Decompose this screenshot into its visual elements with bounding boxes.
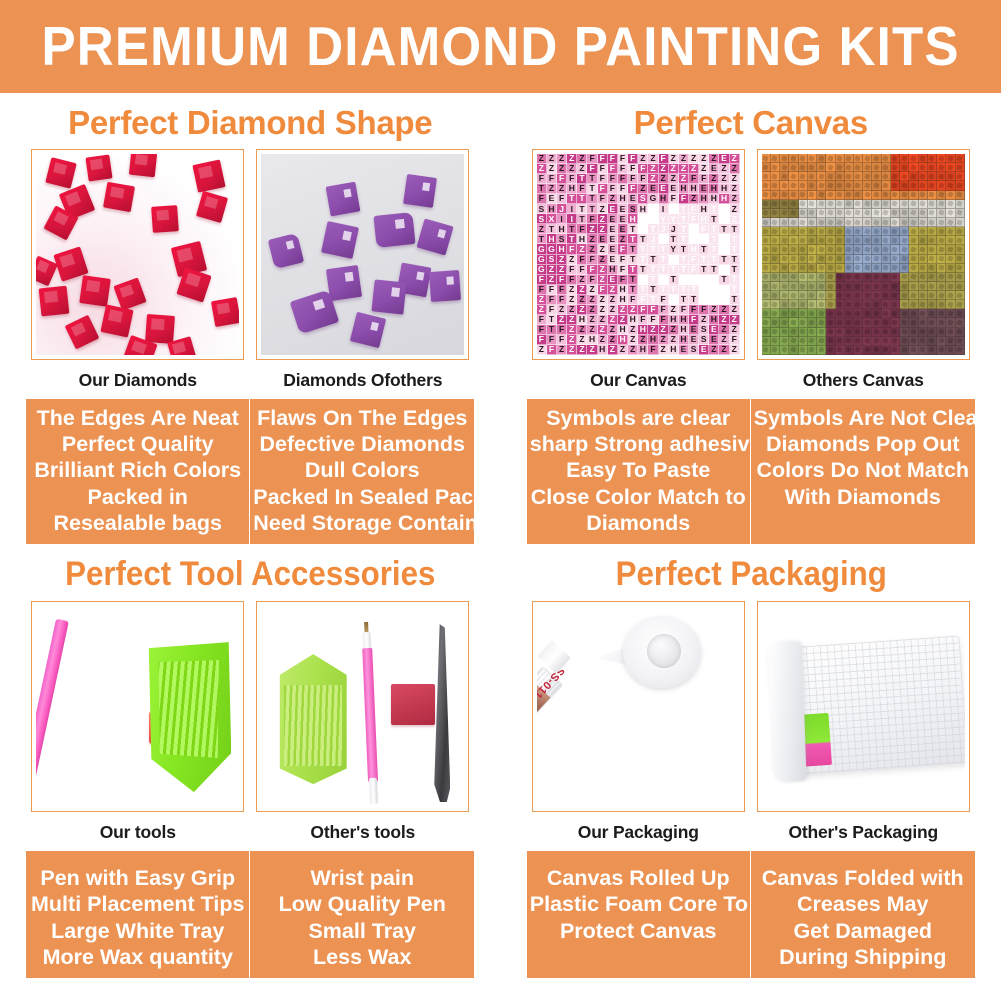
canvas-cell — [937, 209, 946, 218]
bullet-line: During Shipping — [754, 944, 972, 970]
canvas-cell — [872, 200, 881, 209]
canvas-cell — [854, 245, 863, 254]
canvas-cell — [891, 318, 900, 327]
canvas-cell — [928, 191, 937, 200]
canvas-cell — [872, 181, 881, 190]
canvas-cell — [771, 318, 780, 327]
canvas-cell — [799, 227, 808, 236]
photo-caption: Our Canvas — [532, 360, 745, 399]
symbol-cell: T — [679, 234, 689, 244]
symbol-cell: J — [669, 224, 679, 234]
canvas-cell — [845, 255, 854, 264]
canvas-cell — [872, 309, 881, 318]
symbol-cell: I — [557, 214, 567, 224]
bullet-line: More Wax quantity — [29, 944, 246, 970]
canvas-cell — [909, 227, 918, 236]
symbol-cell: Y — [659, 214, 669, 224]
rolled-tube-packaging-photo: SS-011 — [537, 606, 740, 807]
canvas-cell — [780, 318, 789, 327]
canvas-cell — [928, 291, 937, 300]
canvas-cell — [789, 300, 798, 309]
canvas-cell — [882, 245, 891, 254]
canvas-cell — [872, 282, 881, 291]
bullet-line: The Edges Are Neat — [29, 405, 246, 431]
canvas-cell — [845, 218, 854, 227]
symbol-cell: T — [719, 224, 729, 234]
canvas-cell — [891, 154, 900, 163]
canvas-cell — [826, 318, 835, 327]
section-title: Perfect Packaging — [521, 544, 981, 601]
canvas-cell — [956, 300, 965, 309]
canvas-cell — [826, 218, 835, 227]
bullet-line: Canvas Rolled Up — [530, 865, 747, 891]
canvas-cell — [854, 255, 863, 264]
bullet-line: Low Quality Pen — [253, 891, 471, 917]
canvas-cell — [919, 209, 928, 218]
canvas-cell — [789, 273, 798, 282]
canvas-cell — [956, 273, 965, 282]
symbol-cell: F — [648, 345, 658, 355]
canvas-cell — [863, 273, 872, 282]
symbol-cell: T — [638, 244, 648, 254]
canvas-cell — [872, 209, 881, 218]
canvas-cell — [928, 172, 937, 181]
canvas-cell — [900, 264, 909, 273]
bullet-line: Plastic Foam Core To — [530, 891, 747, 917]
canvas-cell — [762, 227, 771, 236]
canvas-cell — [937, 154, 946, 163]
bubble-mailer-icon — [770, 636, 965, 777]
canvas-cell — [836, 291, 845, 300]
canvas-cell — [771, 218, 780, 227]
symbol-cell: X — [547, 214, 557, 224]
canvas-cell — [771, 191, 780, 200]
section-title: Perfect Diamond Shape — [0, 93, 501, 149]
symbol-cell: G — [547, 244, 557, 254]
canvas-cell — [826, 236, 835, 245]
canvas-cell — [863, 300, 872, 309]
canvas-cell — [817, 337, 826, 346]
symbol-cell: I — [638, 214, 648, 224]
symbol-cell: Z — [689, 234, 699, 244]
canvas-cell — [771, 181, 780, 190]
canvas-cell — [762, 264, 771, 273]
section-row-2: Perfect Tool Accessories — [0, 544, 1001, 978]
canvas-cell — [808, 181, 817, 190]
canvas-cell — [919, 328, 928, 337]
canvas-cell — [826, 227, 835, 236]
canvas-cell — [937, 236, 946, 245]
canvas-cell — [836, 181, 845, 190]
canvas-cell — [946, 218, 955, 227]
canvas-cell — [799, 291, 808, 300]
bullet-bar-theirs: Symbols Are Not Clear Diamonds Pop Out C… — [751, 399, 975, 544]
symbol-cell: T — [709, 214, 719, 224]
compare-cell-other-canvas: Others Canvas — [757, 149, 970, 399]
canvas-cell — [799, 163, 808, 172]
canvas-cell — [771, 255, 780, 264]
photo-frame — [31, 149, 244, 360]
canvas-cell — [854, 227, 863, 236]
canvas-cell — [882, 273, 891, 282]
symbol-cell: E — [608, 224, 618, 234]
canvas-cell — [854, 337, 863, 346]
bullet-bars: The Edges Are Neat Perfect Quality Brill… — [0, 399, 501, 544]
canvas-cell — [808, 346, 817, 355]
canvas-cell — [789, 346, 798, 355]
canvas-cell — [780, 300, 789, 309]
canvas-cell — [937, 346, 946, 355]
canvas-cell — [762, 200, 771, 209]
canvas-cell — [937, 309, 946, 318]
symbol-cell: Z — [587, 244, 597, 254]
canvas-cell — [937, 300, 946, 309]
bullet-line: Dull Colors — [253, 457, 471, 483]
canvas-cell — [891, 236, 900, 245]
photo-frame: ZZZZZFFFFFZZFZZZZZEZZZZZZFFFFFFZZZZZZEZZ… — [532, 149, 745, 360]
symbol-cell: Z — [608, 345, 618, 355]
compare-cell-our-canvas: ZZZZZFFFFFZZFZZZZZEZZZZZZFFFFFFZZZZZZEZZ… — [532, 149, 745, 399]
canvas-cell — [900, 300, 909, 309]
bullet-line: Large White Tray — [29, 918, 246, 944]
canvas-cell — [891, 227, 900, 236]
canvas-cell — [909, 273, 918, 282]
canvas-cell — [946, 181, 955, 190]
canvas-cell — [956, 318, 965, 327]
bullet-bar-ours: Canvas Rolled Up Plastic Foam Core To Pr… — [527, 851, 751, 978]
symbol-cell: T — [577, 194, 587, 204]
canvas-cell — [872, 255, 881, 264]
canvas-cell — [762, 245, 771, 254]
canvas-cell — [863, 181, 872, 190]
canvas-cell — [762, 255, 771, 264]
canvas-cell — [762, 318, 771, 327]
canvas-cell — [854, 273, 863, 282]
canvas-cell — [836, 346, 845, 355]
canvas-cell — [937, 264, 946, 273]
canvas-cell — [826, 300, 835, 309]
canvas-cell — [854, 172, 863, 181]
symbol-cell: Z — [587, 345, 597, 355]
canvas-cell — [956, 255, 965, 264]
symbol-cell: Z — [577, 244, 587, 254]
canvas-cell — [789, 227, 798, 236]
canvas-cell — [808, 255, 817, 264]
canvas-cell — [771, 328, 780, 337]
canvas-cell — [826, 181, 835, 190]
symbol-cell: Z — [587, 224, 597, 234]
canvas-cell — [928, 264, 937, 273]
canvas-cell — [900, 255, 909, 264]
canvas-cell — [946, 291, 955, 300]
canvas-cell — [900, 282, 909, 291]
canvas-cell — [872, 328, 881, 337]
canvas-cell — [789, 264, 798, 273]
canvas-cell — [900, 318, 909, 327]
canvas-cell — [817, 291, 826, 300]
canvas-cell — [909, 318, 918, 327]
symbol-cell: E — [618, 214, 628, 224]
symbol-cell: T — [709, 234, 719, 244]
canvas-cell — [836, 236, 845, 245]
canvas-cell — [817, 209, 826, 218]
canvas-cell — [882, 218, 891, 227]
canvas-cell — [919, 227, 928, 236]
canvas-cell — [799, 273, 808, 282]
canvas-cell — [872, 337, 881, 346]
bullet-line: Creases May — [754, 891, 972, 917]
canvas-cell — [808, 282, 817, 291]
canvas-cell — [836, 300, 845, 309]
symbol-cell: G — [648, 194, 658, 204]
canvas-cell — [863, 282, 872, 291]
canvas-cell — [956, 163, 965, 172]
photo-caption: Our Diamonds — [31, 360, 244, 399]
symbol-cell: F — [679, 194, 689, 204]
section-perfect-canvas: Perfect Canvas ZZZZZFFFFFZZFZZZZZEZZZZZZ… — [501, 93, 1001, 544]
symbol-cell: T — [577, 204, 587, 214]
compare-cell-other-packaging: Other's Packaging — [757, 601, 970, 851]
bullet-line: With Diamonds — [754, 484, 972, 510]
canvas-cell — [808, 318, 817, 327]
canvas-cell — [799, 218, 808, 227]
canvas-cell — [863, 163, 872, 172]
symbol-cell: Z — [730, 345, 740, 355]
canvas-cell — [909, 172, 918, 181]
canvas-cell — [771, 309, 780, 318]
canvas-cell — [928, 181, 937, 190]
bullet-line: Diamonds — [530, 510, 747, 536]
canvas-cell — [882, 337, 891, 346]
canvas-cell — [919, 172, 928, 181]
symbol-cell: T — [699, 244, 709, 254]
symbol-cell: T — [567, 224, 577, 234]
canvas-cell — [817, 191, 826, 200]
symbol-cell: H — [689, 244, 699, 254]
canvas-cell — [882, 309, 891, 318]
canvas-cell — [919, 273, 928, 282]
canvas-cell — [826, 255, 835, 264]
tweezers-icon — [434, 624, 450, 802]
canvas-cell — [937, 227, 946, 236]
symbol-cell: E — [699, 345, 709, 355]
canvas-cell — [882, 264, 891, 273]
section-title: Perfect Canvas — [501, 93, 1001, 149]
canvas-cell — [780, 218, 789, 227]
section-row-1: Perfect Diamond Shape — [0, 93, 1001, 544]
canvas-cell — [863, 236, 872, 245]
symbol-cell: F — [557, 194, 567, 204]
symbol-cell: T — [577, 214, 587, 224]
canvas-cell — [946, 227, 955, 236]
canvas-cell — [799, 346, 808, 355]
canvas-cell — [872, 163, 881, 172]
photo-caption: Other's tools — [256, 812, 469, 851]
symbol-cell: F — [537, 194, 547, 204]
photo-pair: SS-011 Our Packaging — [501, 601, 1001, 851]
canvas-cell — [909, 163, 918, 172]
canvas-cell — [836, 227, 845, 236]
canvas-cell — [872, 264, 881, 273]
symbol-cell: T — [709, 244, 719, 254]
canvas-cell — [900, 209, 909, 218]
canvas-cell — [836, 318, 845, 327]
canvas-cell — [771, 209, 780, 218]
photo-frame — [256, 149, 469, 360]
symbol-cell: H — [699, 204, 709, 214]
canvas-cell — [882, 154, 891, 163]
canvas-cell — [836, 209, 845, 218]
canvas-cell — [891, 245, 900, 254]
symbol-cell: E — [618, 224, 628, 234]
canvas-cell — [928, 328, 937, 337]
canvas-cell — [919, 181, 928, 190]
canvas-cell — [845, 191, 854, 200]
canvas-cell — [789, 172, 798, 181]
canvas-cell — [762, 300, 771, 309]
symbol-cell: T — [709, 204, 719, 214]
canvas-cell — [956, 200, 965, 209]
symbol-cell: Y — [669, 214, 679, 224]
canvas-cell — [946, 209, 955, 218]
canvas-cell — [826, 163, 835, 172]
canvas-cell — [882, 163, 891, 172]
canvas-cell — [808, 245, 817, 254]
canvas-cell — [762, 209, 771, 218]
canvas-cell — [956, 346, 965, 355]
canvas-cell — [863, 318, 872, 327]
canvas-cell — [891, 273, 900, 282]
symbol-cell: E — [608, 234, 618, 244]
canvas-cell — [789, 291, 798, 300]
canvas-cell — [909, 218, 918, 227]
symbol-cell: E — [679, 345, 689, 355]
canvas-cell — [808, 236, 817, 245]
symbol-cell: E — [608, 204, 618, 214]
canvas-cell — [891, 191, 900, 200]
canvas-cell — [845, 337, 854, 346]
canvas-cell — [789, 209, 798, 218]
bullet-line: Wrist pain — [253, 865, 471, 891]
canvas-cell — [826, 291, 835, 300]
canvas-cell — [882, 346, 891, 355]
canvas-cell — [771, 154, 780, 163]
bullet-bars: Symbols are clear sharp Strong adhesive … — [501, 399, 1001, 544]
canvas-cell — [817, 154, 826, 163]
canvas-cell — [863, 255, 872, 264]
bullet-line: Defective Diamonds — [253, 431, 471, 457]
canvas-cell — [808, 200, 817, 209]
symbol-cell: G — [537, 244, 547, 254]
canvas-cell — [872, 273, 881, 282]
canvas-cell — [956, 282, 965, 291]
canvas-cell — [799, 264, 808, 273]
canvas-cell — [928, 200, 937, 209]
canvas-cell — [863, 191, 872, 200]
canvas-cell — [882, 191, 891, 200]
canvas-cell — [854, 191, 863, 200]
bullet-bar-ours: The Edges Are Neat Perfect Quality Brill… — [26, 399, 250, 544]
canvas-cell — [789, 191, 798, 200]
symbol-cell: H — [638, 345, 648, 355]
canvas-cell — [771, 282, 780, 291]
canvas-cell — [891, 346, 900, 355]
canvas-cell — [956, 245, 965, 254]
canvas-cell — [882, 181, 891, 190]
canvas-cell — [836, 218, 845, 227]
canvas-cell — [799, 172, 808, 181]
symbol-cell: H — [557, 224, 567, 234]
symbol-cell: T — [699, 234, 709, 244]
canvas-cell — [909, 264, 918, 273]
photo-frame — [256, 601, 469, 812]
canvas-cell — [845, 227, 854, 236]
canvas-cell — [845, 154, 854, 163]
canvas-cell — [799, 181, 808, 190]
canvas-cell — [836, 200, 845, 209]
canvas-cell — [863, 209, 872, 218]
symbol-cell: F — [618, 244, 628, 254]
canvas-cell — [771, 346, 780, 355]
canvas-cell — [900, 337, 909, 346]
symbol-cell: Y — [669, 244, 679, 254]
canvas-cell — [900, 309, 909, 318]
canvas-cell — [817, 273, 826, 282]
canvas-cell — [808, 209, 817, 218]
canvas-cell — [900, 154, 909, 163]
canvas-cell — [863, 227, 872, 236]
section-perfect-diamond-shape: Perfect Diamond Shape — [0, 93, 501, 544]
canvas-cell — [836, 309, 845, 318]
canvas-cell — [854, 236, 863, 245]
canvas-cell — [808, 291, 817, 300]
canvas-cell — [762, 273, 771, 282]
page-title: PREMIUM DIAMOND PAINTING KITS — [41, 19, 959, 74]
canvas-cell — [826, 273, 835, 282]
canvas-cell — [946, 309, 955, 318]
canvas-cell — [946, 245, 955, 254]
canvas-cell — [900, 181, 909, 190]
canvas-cell — [946, 172, 955, 181]
canvas-cell — [789, 181, 798, 190]
canvas-cell — [863, 264, 872, 273]
canvas-cell — [780, 291, 789, 300]
symbol-cell: Z — [537, 345, 547, 355]
canvas-cell — [919, 291, 928, 300]
canvas-cell — [863, 309, 872, 318]
symbol-cell: T — [567, 194, 577, 204]
canvas-cell — [956, 191, 965, 200]
canvas-cell — [799, 300, 808, 309]
canvas-cell — [909, 181, 918, 190]
comparison-sections: Perfect Diamond Shape — [0, 93, 1001, 978]
bullet-line: Need Storage Containers — [253, 510, 471, 536]
canvas-cell — [808, 264, 817, 273]
canvas-cell — [863, 172, 872, 181]
photo-caption: Diamonds Ofothers — [256, 360, 469, 399]
symbol-cell: T — [679, 244, 689, 254]
symbol-cell: J — [648, 214, 658, 224]
canvas-cell — [928, 236, 937, 245]
canvas-cell — [909, 200, 918, 209]
canvas-cell — [946, 163, 955, 172]
symbol-cell: Z — [567, 345, 577, 355]
canvas-cell — [799, 154, 808, 163]
canvas-cell — [891, 218, 900, 227]
canvas-cell — [780, 200, 789, 209]
canvas-cell — [826, 191, 835, 200]
bullet-line: Get Damaged — [754, 918, 972, 944]
